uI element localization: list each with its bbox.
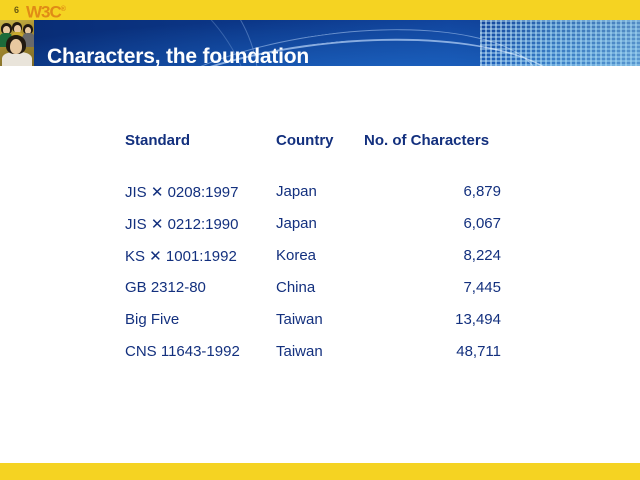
cell-characters: 48,711 [361, 343, 501, 360]
people-photo-thumbnail [0, 20, 34, 66]
cell-characters: 13,494 [361, 311, 501, 328]
cell-characters: 7,445 [361, 279, 501, 296]
registered-trademark-icon: ® [61, 6, 66, 13]
bottom-yellow-band [0, 463, 640, 480]
cell-characters: 6,067 [361, 215, 501, 232]
page-title: Characters, the foundation [47, 45, 309, 66]
table-row: Big Five Taiwan 13,494 [125, 311, 503, 343]
table-row: CNS 11643-1992 Taiwan 48,711 [125, 343, 503, 375]
cell-characters: 8,224 [361, 247, 501, 264]
cell-country: Korea [276, 247, 361, 264]
table-row: JIS ✕ 0212:1990 Japan 6,067 [125, 215, 503, 247]
slide-title-bar: Characters, the foundation [0, 20, 640, 66]
cell-standard: KS ✕ 1001:1992 [125, 247, 275, 265]
cell-country: Japan [276, 183, 361, 200]
top-yellow-band [0, 0, 640, 20]
cell-standard: GB 2312-80 [125, 279, 275, 296]
cell-country: China [276, 279, 361, 296]
cell-standard: Big Five [125, 311, 275, 328]
table-row: KS ✕ 1001:1992 Korea 8,224 [125, 247, 503, 279]
photo-person-4-shirt [2, 52, 32, 66]
w3c-logo: W3C® [26, 0, 66, 22]
table-row: JIS ✕ 0208:1997 Japan 6,879 [125, 183, 503, 215]
photo-person-4-face [10, 39, 22, 54]
cell-standard: JIS ✕ 0212:1990 [125, 215, 275, 233]
slide-canvas: 6 W3C® Characters, the foundation Standa… [0, 0, 640, 480]
standards-table: Standard Country No. of Characters JIS ✕… [125, 132, 503, 375]
binary-pattern-decoration [480, 20, 640, 66]
column-header-standard: Standard [125, 132, 275, 149]
cell-standard: JIS ✕ 0208:1997 [125, 183, 275, 201]
column-header-country: Country [276, 132, 361, 149]
cell-country: Taiwan [276, 311, 361, 328]
column-header-characters: No. of Characters [364, 132, 504, 149]
table-header-row: Standard Country No. of Characters [125, 132, 503, 183]
cell-characters: 6,879 [361, 183, 501, 200]
slide-number: 6 [14, 4, 19, 16]
cell-country: Japan [276, 215, 361, 232]
table-row: GB 2312-80 China 7,445 [125, 279, 503, 311]
w3c-logo-text: W3C [26, 3, 61, 22]
cell-standard: CNS 11643-1992 [125, 343, 275, 360]
cell-country: Taiwan [276, 343, 361, 360]
